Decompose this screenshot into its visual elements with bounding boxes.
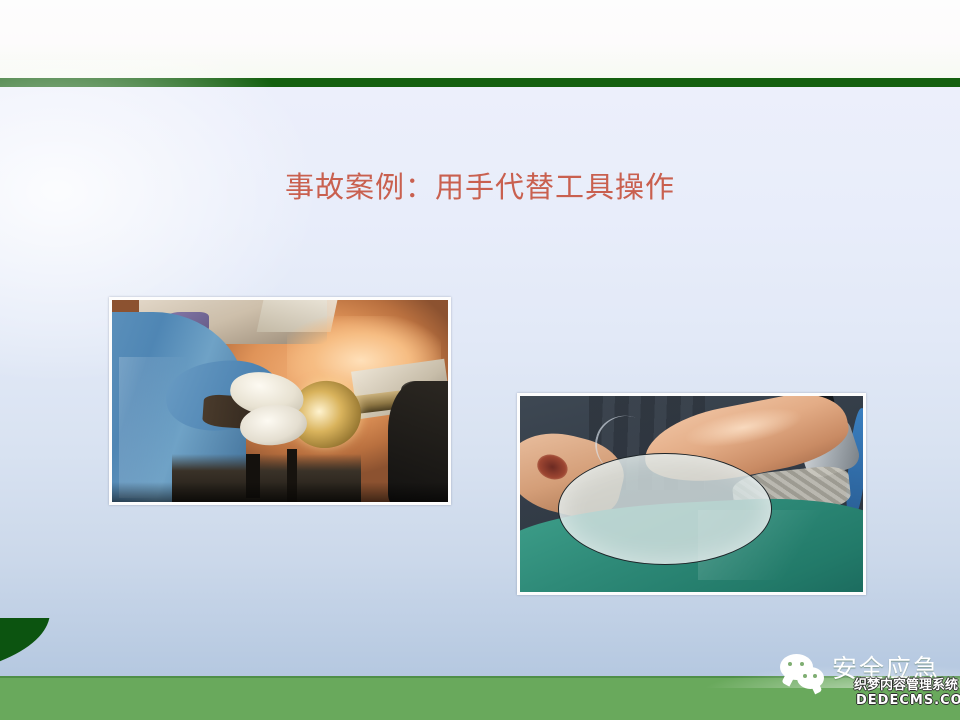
wechat-bubble-small-eye-right	[813, 674, 817, 678]
watermark-cms-en-label: DEDECMS.COM	[856, 693, 960, 708]
watermark-block: 安全应急 织梦内容管理系统 DEDECMS.COM	[780, 650, 960, 706]
page-title: 事故案例：用手代替工具操作	[0, 168, 960, 206]
slide-canvas: 事故案例：用手代替工具操作	[0, 0, 960, 720]
surgery-photo-right-content	[520, 396, 863, 592]
surgery-photo-left	[109, 297, 451, 505]
bottom-left-corner-accent	[0, 618, 80, 680]
photo-left-bottom-shadow	[112, 482, 448, 502]
wechat-bubble-small	[797, 667, 824, 689]
surgery-photo-right	[517, 393, 866, 595]
wechat-bubble-small-eye-left	[803, 674, 807, 678]
photo-right-redaction-oval	[558, 453, 773, 565]
watermark-cms-cn-label: 织梦内容管理系统	[854, 678, 958, 693]
wechat-bubble-large-eye-right	[800, 662, 804, 666]
wechat-icon	[780, 654, 832, 692]
surgery-photo-left-content	[112, 300, 448, 502]
top-white-strip	[0, 0, 960, 78]
top-green-rule	[0, 78, 960, 87]
wechat-bubble-large-eye-left	[788, 662, 792, 666]
